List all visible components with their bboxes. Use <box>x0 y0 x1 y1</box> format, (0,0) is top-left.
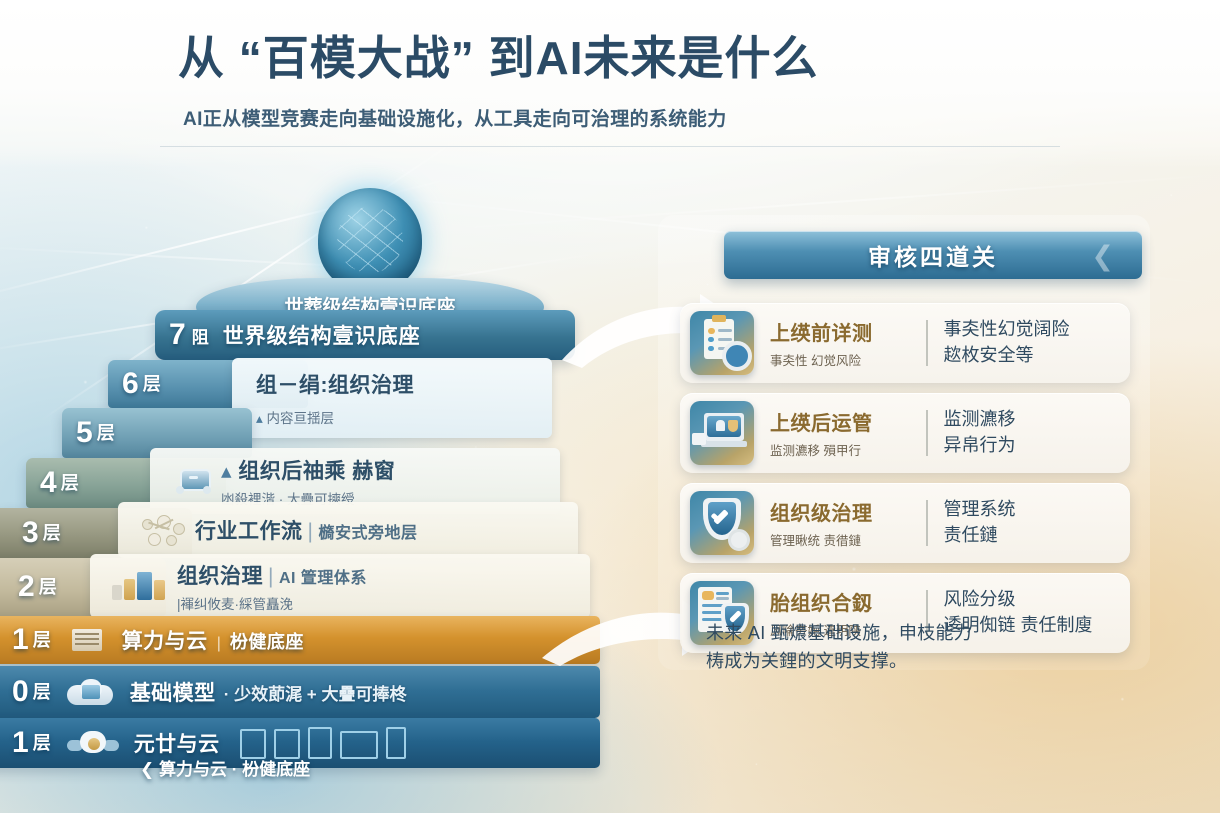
pyramid-step-6-unit: 层 <box>143 375 161 393</box>
panel-footnote-line1: 未来 AI 甄燶基础设施，申枝能力 <box>706 620 972 648</box>
pyramid-plate-governance-sub: ▴ 内容亘揺层 <box>256 407 414 427</box>
pyramid-step-5-number: 5 <box>76 418 93 448</box>
pyramid-diagram: 世葬级结构壹识底座 7 阻 世界级结构壹识底座 6 层 组－绢:组织治理 ▴ 内… <box>0 170 640 790</box>
pyramid-step-1b-number: 1 <box>12 728 29 758</box>
robot-icon <box>174 466 212 496</box>
card-divider <box>926 320 928 366</box>
review-card-3[interactable]: 组织级治理 管理瞅统 责徣鏈 管理系统 责任鏈 <box>680 483 1130 563</box>
shield-check-gear-icon <box>690 491 754 555</box>
card-divider <box>926 410 928 456</box>
review-card-3-title: 组织级治理 <box>770 497 922 526</box>
header-divider <box>160 146 1060 147</box>
review-card-3-right-line2: 责任鏈 <box>944 523 1016 549</box>
review-card-3-subtitle: 管理瞅统 责徣鏈 <box>770 530 922 549</box>
pyramid-plate-org[interactable]: 组织治理|AI 箮理体系 |褌纠攸麦·綵管矗浼 <box>90 554 590 618</box>
review-card-2-title: 上绬后运管 <box>770 407 922 436</box>
pyramid-plate-workflow[interactable]: 行业工作流|檹安式旁地层 <box>118 502 578 558</box>
pyramid-step-7-number: 7 <box>169 320 186 350</box>
pyramid-step-1b-title: 元廿与云 <box>134 728 220 758</box>
review-card-1-subtitle: 事㚐性 幻觉风险 <box>770 350 922 369</box>
review-card-4-right-line1: 风险分级 <box>944 587 1093 613</box>
pyramid-step-3-number: 3 <box>22 518 39 548</box>
buildings-icon <box>112 571 168 601</box>
pyramid-step-0-unit: 层 <box>33 683 51 701</box>
pyramid-step-6-number: 6 <box>122 369 139 399</box>
chevron-left-icon: ❮ <box>140 760 154 779</box>
pyramid-step-1c-title: 算力与云 <box>122 625 208 655</box>
infographic-canvas: 从 “百模大战” 到AI未来是什么 AI正从模型竞赛走向基础设施化，从工具走向可… <box>0 0 1220 813</box>
pyramid-step-2-unit: 层 <box>39 578 57 596</box>
panel-banner: chevron-right-icon 审核四道关 ❮ <box>724 231 1142 279</box>
pyramid-footer-caption: ❮ 算力与云 · 枌健底座 <box>140 755 310 780</box>
pyramid-step-1c-number: 1 <box>12 625 29 655</box>
review-card-4-title: 胎组织合釼 <box>770 587 922 616</box>
pyramid-plate-governance[interactable]: 组－绢:组织治理 ▴ 内容亘揺层 <box>232 358 552 438</box>
pyramid-step-3-unit: 层 <box>43 524 61 542</box>
card-divider <box>926 500 928 546</box>
pyramid-plate-workflow-title: 行业工作流|檹安式旁地层 <box>195 515 417 545</box>
review-panel: chevron-right-icon 审核四道关 ❮ 上绬前详测 事㚐性 幻觉风… <box>640 215 1170 695</box>
pyramid-step-0[interactable]: 0 层 基础模型 · 少效莭浘 + 大疊可捧柊 <box>0 666 600 718</box>
review-card-2[interactable]: 上绬后运管 监测瀌移 殞甲行 监测瀌移 异帛行为 <box>680 393 1130 473</box>
pyramid-step-7[interactable]: 7 阻 世界级结构壹识底座 <box>155 310 575 360</box>
page-title: 从 “百模大战” 到AI未来是什么 <box>178 22 819 88</box>
datacenter-icon <box>67 625 107 655</box>
review-card-1-right-line1: 事㚐性幻觉阔险 <box>944 317 1070 343</box>
laptop-shield-icon <box>690 401 754 465</box>
review-card-1[interactable]: 上绬前详测 事㚐性 幻觉风险 事㚐性幻觉阔险 趑枚安全等 <box>680 303 1130 383</box>
pyramid-step-0-title: 基础模型 <box>130 677 216 707</box>
pyramid-plate-robot-title: ▴ 组织后䄂乘 赫窗 <box>221 455 395 485</box>
review-card-2-subtitle: 监测瀌移 殞甲行 <box>770 440 922 459</box>
review-card-3-right-line1: 管理系统 <box>944 497 1016 523</box>
review-card-2-right-line1: 监测瀌移 <box>944 407 1016 433</box>
cloud-chip-icon <box>67 677 115 707</box>
cloud-stack-icon <box>67 728 119 758</box>
pyramid-plate-governance-title: 组－绢:组织治理 <box>256 369 414 399</box>
workflow-nodes-icon <box>140 515 186 545</box>
pyramid-step-0-number: 0 <box>12 677 29 707</box>
pyramid-step-0-sub: · 少效莭浘 + 大疊可捧柊 <box>224 680 407 705</box>
pyramid-step-1c-unit: 层 <box>33 631 51 649</box>
pyramid-step-4-unit: 层 <box>61 474 79 492</box>
pyramid-plate-org-title: 组织治理|AI 箮理体系 <box>177 560 367 590</box>
pyramid-step-1-compute[interactable]: 1 层 算力与云 | 枌健底座 <box>0 616 600 664</box>
page-subtitle: AI正从模型竞赛走向基础设施化，从工具走向可治理的系统能力 <box>183 104 727 131</box>
panel-footnote: 未来 AI 甄燶基础设施，申枝能力 梼成为关鋰的文明支撑。 <box>706 620 972 676</box>
chevron-left-icon: ❮ <box>1091 241 1114 272</box>
panel-footnote-line2: 梼成为关鋰的文明支撑。 <box>706 648 972 676</box>
clipboard-magnifier-icon <box>690 311 754 375</box>
brain-network-icon <box>318 188 422 292</box>
pyramid-plate-org-sub: |褌纠攸麦·綵管矗浼 <box>177 593 367 613</box>
pyramid-step-5-unit: 层 <box>97 424 115 442</box>
pyramid-step-7-unit: 阻 <box>192 323 209 348</box>
panel-banner-title: 审核四道关 <box>868 238 998 272</box>
review-card-1-title: 上绬前详测 <box>770 317 922 346</box>
pyramid-step-7-label: 世界级结构壹识底座 <box>223 320 421 350</box>
pyramid-step-1c-sub: 枌健底座 <box>230 628 304 654</box>
review-card-1-right-line2: 趑枚安全等 <box>944 343 1070 369</box>
pyramid-step-1b-unit: 层 <box>33 734 51 752</box>
review-card-2-right-line2: 异帛行为 <box>944 433 1016 459</box>
pyramid-step-2-number: 2 <box>18 572 35 602</box>
pyramid-step-4-number: 4 <box>40 468 57 498</box>
